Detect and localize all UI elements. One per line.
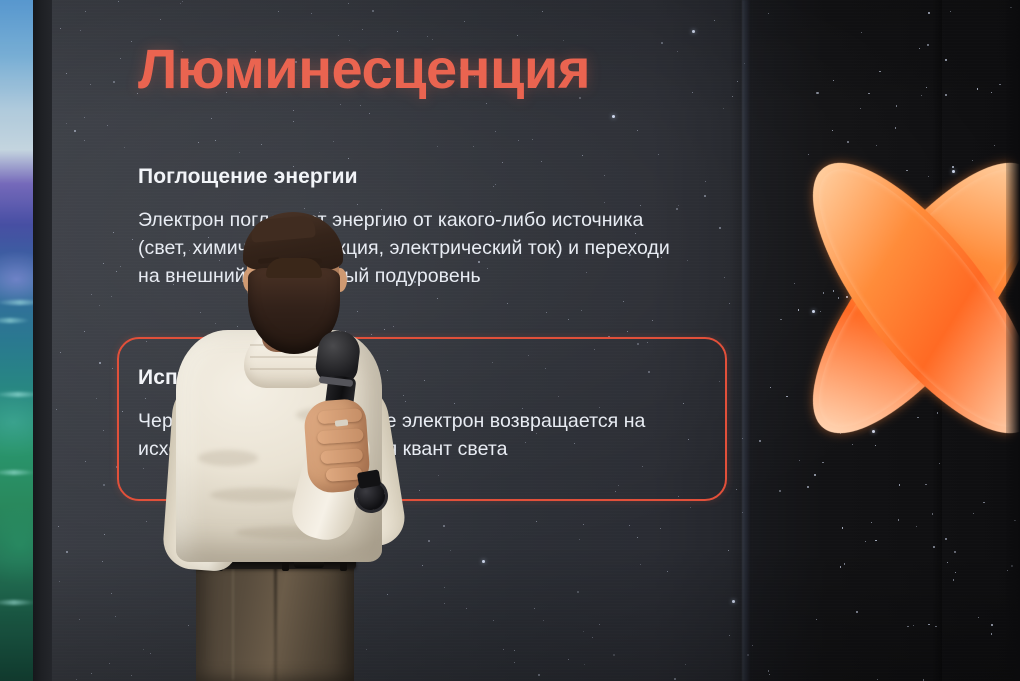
section-heading-absorption: Поглощение энергии [138,165,358,189]
side-screen-glow [0,0,33,681]
section-body-absorption: Электрон поглощает энергию от какого-либ… [138,206,738,290]
section-heading-emission: Испускание энергии [138,366,351,390]
slide-title: Люминесценция [138,36,590,101]
section-body-emission: Через какое-то время более электрон возв… [138,407,738,463]
presentation-screen: Люминесценция Поглощение энергии Электро… [52,0,1020,681]
screen-bezel-left [33,0,52,681]
photo-scene: Люминесценция Поглощение энергии Электро… [0,0,1020,681]
screen-bezel-right [1006,0,1020,681]
side-screen-landscape [0,0,33,681]
